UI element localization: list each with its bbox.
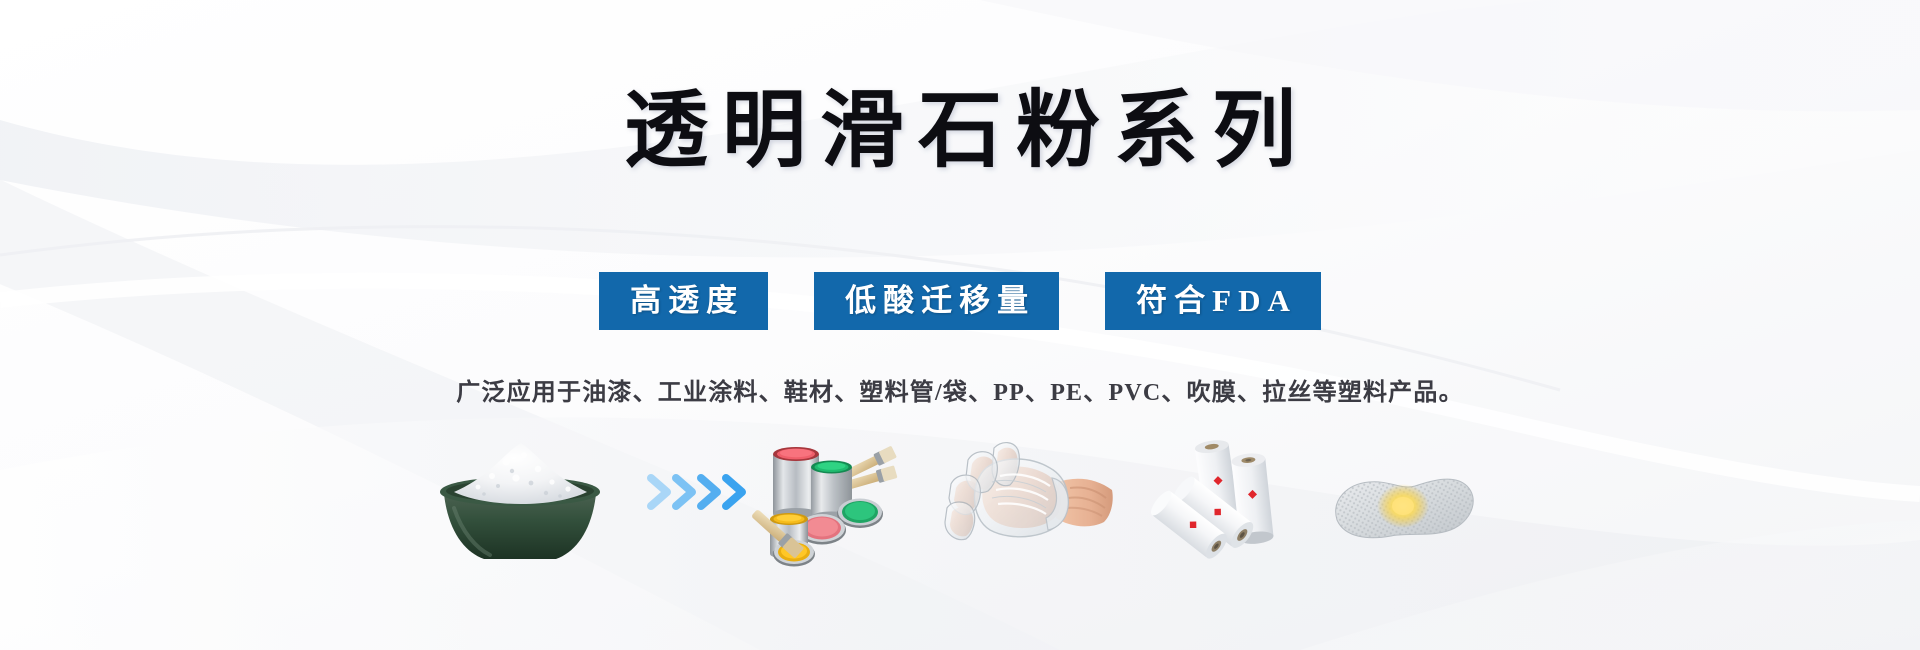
film-rolls-image bbox=[1150, 438, 1290, 568]
promo-banner: 透明滑石粉系列 高透度 低酸迁移量 符合FDA 广泛应用于油漆、工业涂料、鞋材、… bbox=[0, 0, 1920, 650]
talc-powder-bowl-image bbox=[420, 438, 620, 568]
shoe-sole-image bbox=[1315, 438, 1485, 568]
application-description: 广泛应用于油漆、工业涂料、鞋材、塑料管/袋、PP、PE、PVC、吹膜、拉丝等塑料… bbox=[0, 372, 1920, 407]
chevron-arrows bbox=[645, 468, 755, 516]
feature-badge-row: 高透度 低酸迁移量 符合FDA bbox=[0, 272, 1920, 330]
page-title: 透明滑石粉系列 bbox=[0, 82, 1920, 181]
feature-badge-high-transparency[interactable]: 高透度 bbox=[599, 272, 768, 330]
product-image-strip bbox=[0, 438, 1920, 578]
feature-badge-fda-compliant[interactable]: 符合FDA bbox=[1105, 272, 1321, 330]
gloved-hand-image bbox=[942, 438, 1117, 568]
paint-cans-image bbox=[752, 438, 902, 568]
feature-badge-low-acid-migration[interactable]: 低酸迁移量 bbox=[814, 272, 1059, 330]
